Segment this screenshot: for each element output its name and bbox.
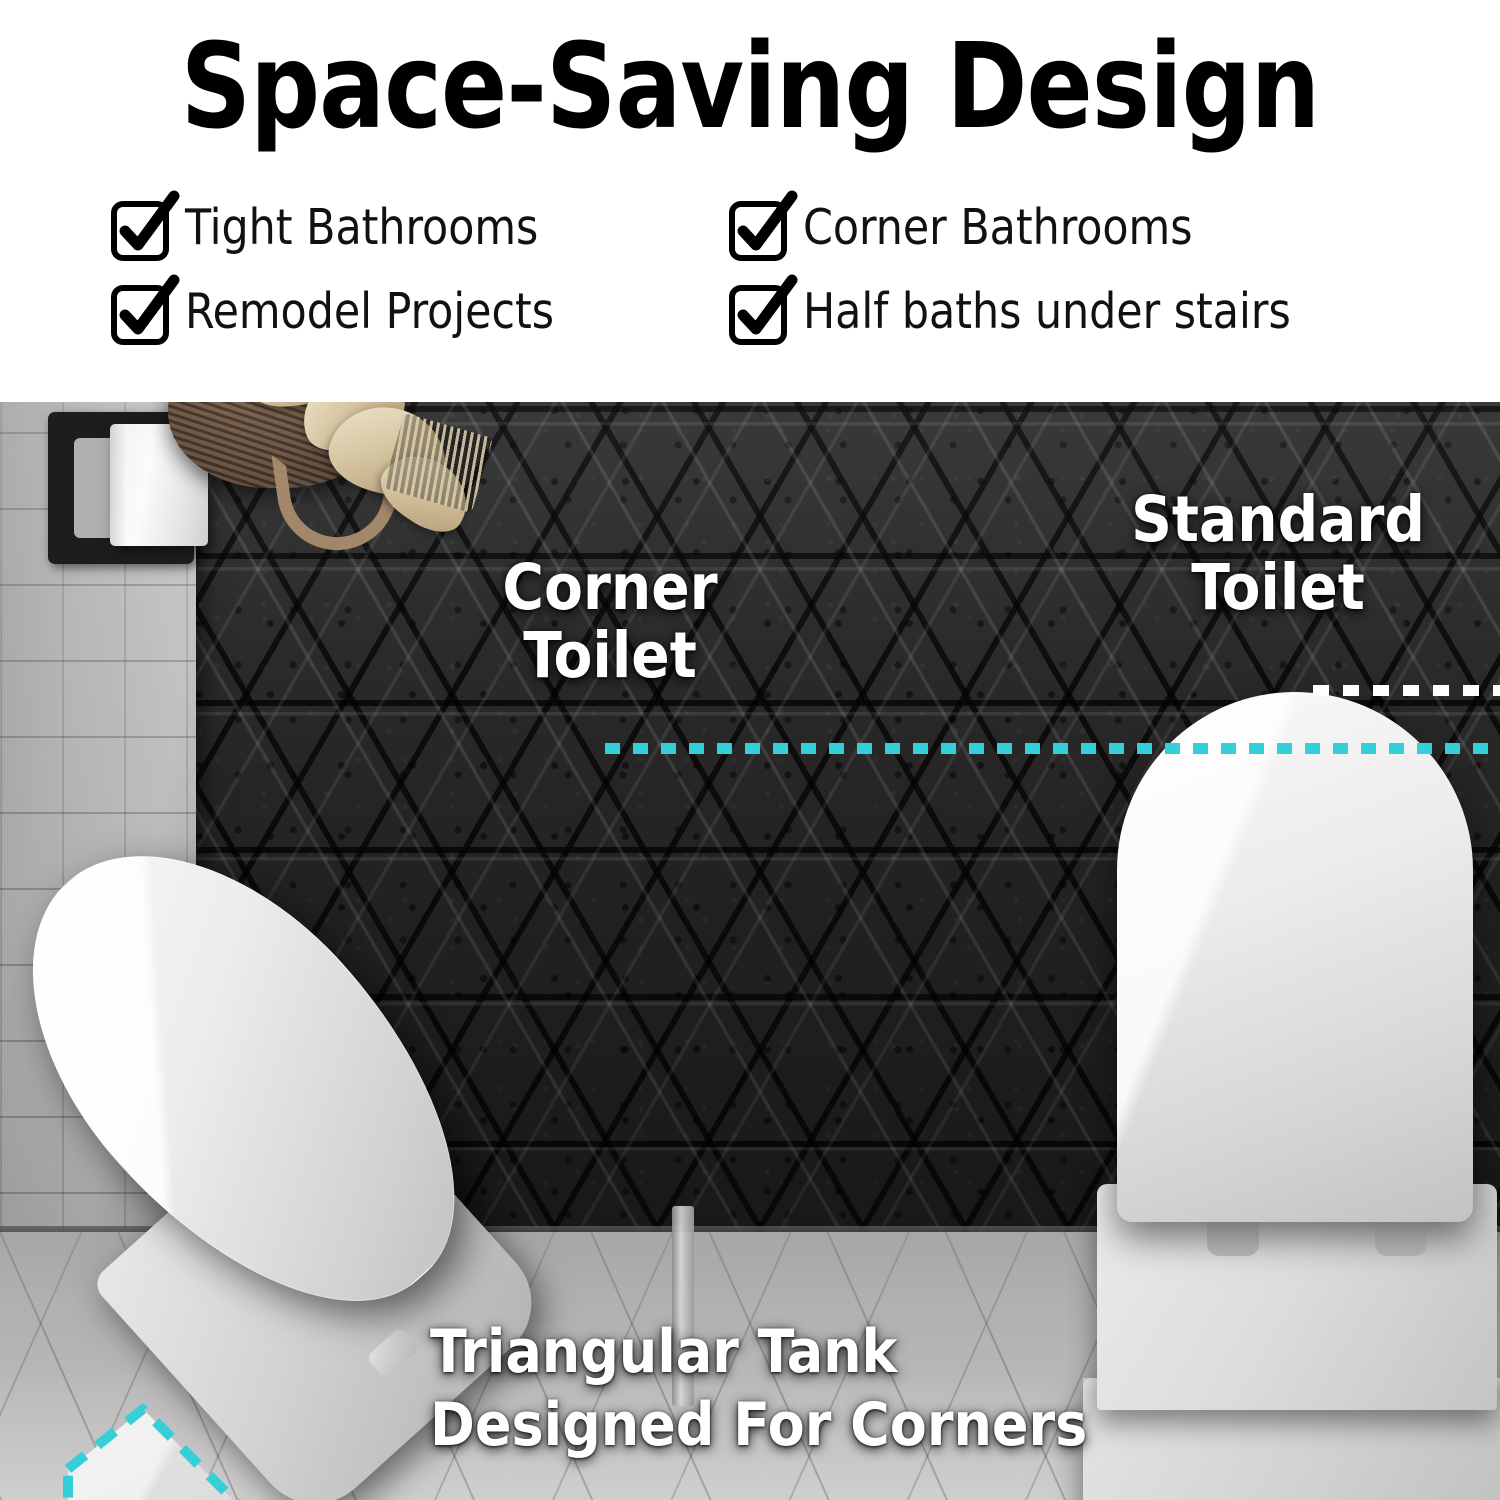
bullet-item-corner-bathrooms: Corner Bathrooms bbox=[730, 200, 1500, 257]
page-title: Space-Saving Design bbox=[60, 26, 1440, 146]
bullet-label: Remodel Projects bbox=[185, 286, 554, 338]
checkbox-checked-icon bbox=[112, 200, 165, 257]
triangular-tank-highlight-outline bbox=[20, 1392, 460, 1500]
caption-corner-toilet: Corner Toilet bbox=[440, 554, 780, 690]
checkbox-checked-icon bbox=[730, 200, 783, 257]
bullet-label: Tight Bathrooms bbox=[185, 202, 538, 254]
standard-toilet-tank-lid bbox=[1117, 692, 1473, 1222]
checkbox-checked-icon bbox=[730, 284, 783, 341]
caption-triangular-tank: Triangular Tank Designed For Corners bbox=[430, 1316, 1130, 1462]
bullet-label: Half baths under stairs bbox=[803, 286, 1291, 338]
bullet-label: Corner Bathrooms bbox=[803, 202, 1193, 254]
header-panel: Space-Saving Design Tight Bathrooms bbox=[0, 0, 1500, 402]
standard-toilet bbox=[1075, 692, 1500, 1500]
corner-toilet-height-line bbox=[605, 743, 1500, 754]
checkbox-checked-icon bbox=[112, 284, 165, 341]
bathroom-photo: Corner Toilet Standard Toilet Triangular… bbox=[0, 402, 1500, 1500]
bullet-item-tight-bathrooms: Tight Bathrooms bbox=[112, 200, 730, 257]
bullet-item-half-baths-under-stairs: Half baths under stairs bbox=[730, 284, 1500, 341]
bullet-item-remodel-projects: Remodel Projects bbox=[112, 284, 730, 341]
triangular-tank bbox=[20, 1392, 460, 1500]
infographic-page: Space-Saving Design Tight Bathrooms bbox=[0, 0, 1500, 1500]
feature-bullet-list: Tight Bathrooms Corner Bathrooms bbox=[0, 186, 1500, 376]
standard-toilet-height-line bbox=[1313, 685, 1500, 696]
caption-standard-toilet: Standard Toilet bbox=[1068, 486, 1488, 622]
